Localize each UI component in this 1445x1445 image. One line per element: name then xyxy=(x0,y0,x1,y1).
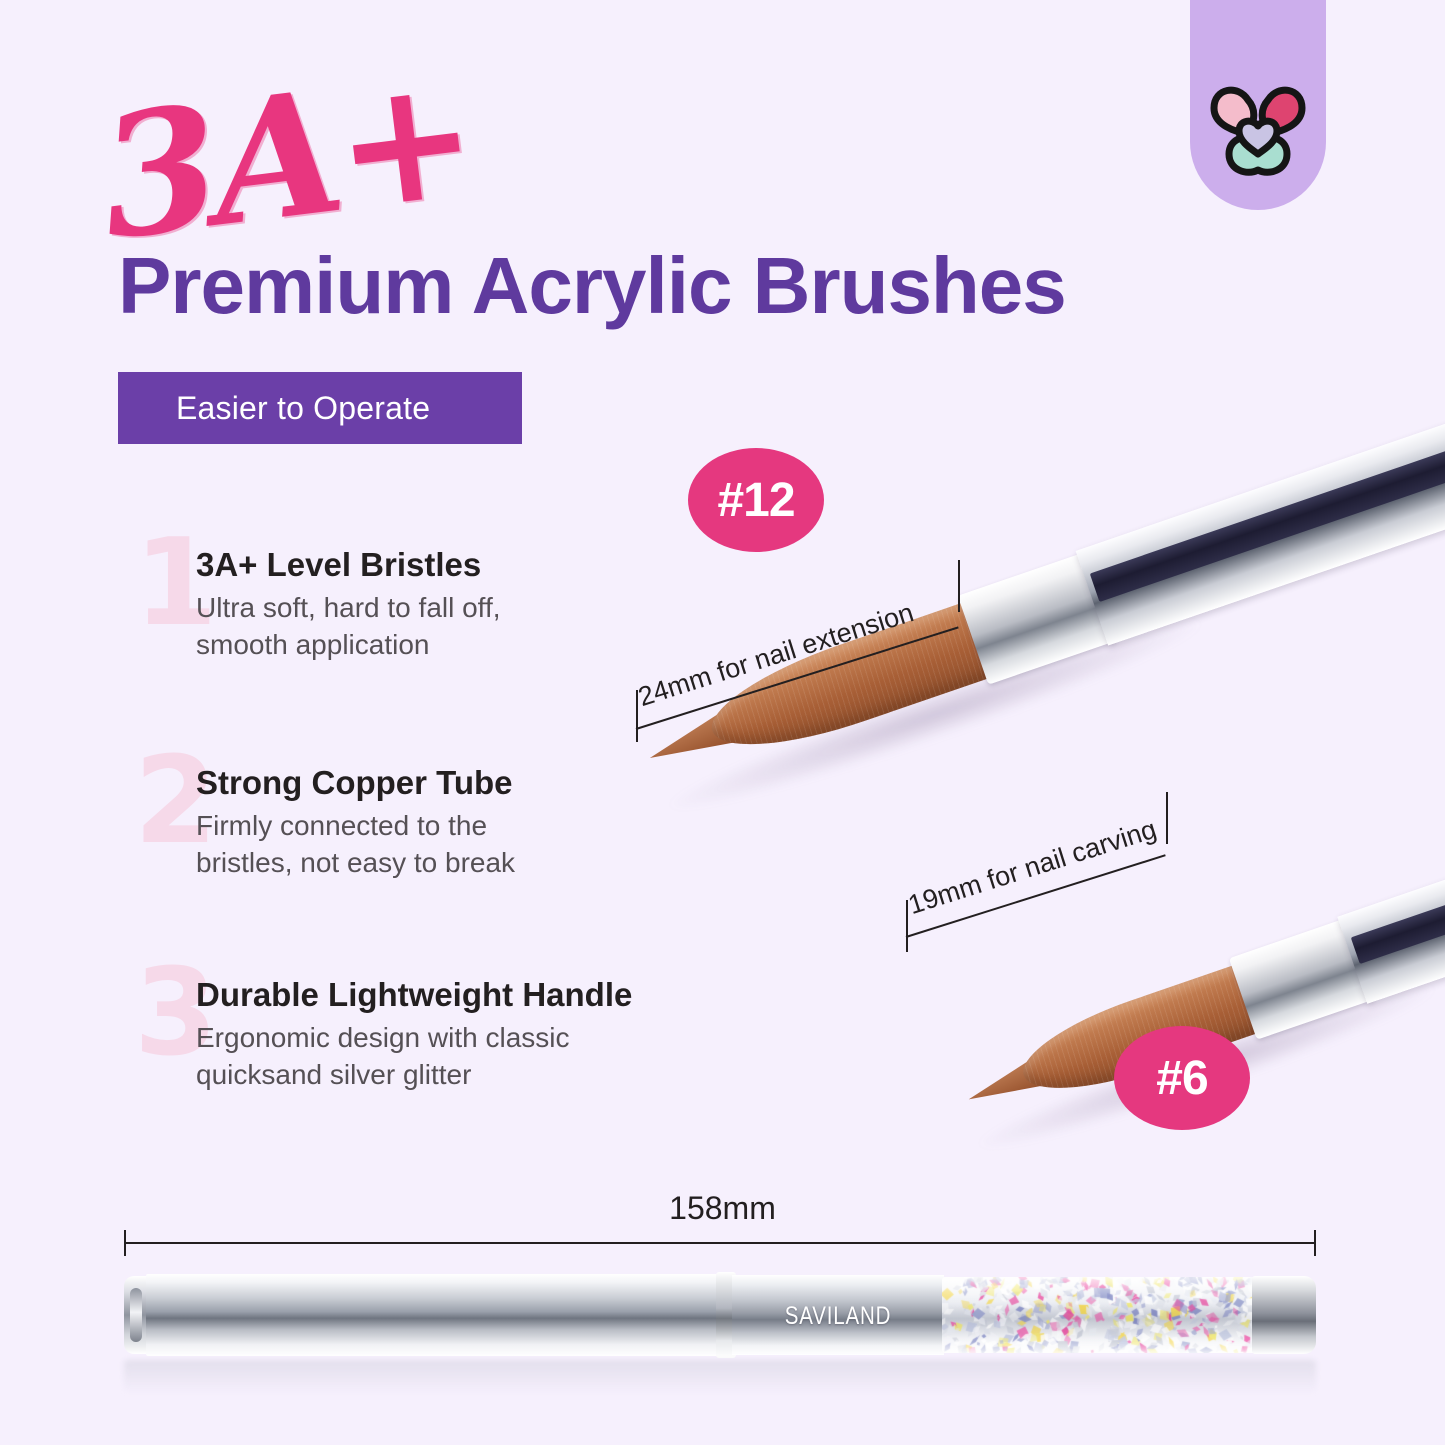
feature-description: Firmly connected to the bristles, not ea… xyxy=(196,808,666,882)
brand-name-text: SAVILAND xyxy=(751,1302,925,1331)
full-brush-length-label: 158mm xyxy=(0,1190,1445,1227)
feature-title: Strong Copper Tube xyxy=(196,764,666,802)
brush-end-cap xyxy=(1252,1276,1316,1354)
infographic-page: 3A+ Premium Acrylic Brushes Easier to Op… xyxy=(0,0,1445,1445)
feature-desc-line: smooth application xyxy=(196,627,666,664)
brush-barrel xyxy=(146,1274,724,1356)
feature-desc-line: Ultra soft, hard to fall off, xyxy=(196,590,666,627)
dimension-tick-right xyxy=(1166,792,1168,844)
flower-logo-icon xyxy=(1205,78,1311,178)
feature-description: Ultra soft, hard to fall off, smooth app… xyxy=(196,590,666,664)
full-brush-section: 158mm SAVILAND xyxy=(0,1168,1445,1445)
dimension-tick-right xyxy=(958,560,960,612)
glitter-tube xyxy=(942,1277,1256,1353)
full-brush-illustration: SAVILAND xyxy=(124,1272,1316,1358)
feature-desc-line: bristles, not easy to break xyxy=(196,845,666,882)
feature-title: 3A+ Level Bristles xyxy=(196,546,666,584)
subtitle-chip: Easier to Operate xyxy=(118,372,522,444)
dimension-tick-left xyxy=(636,690,638,742)
dimension-tick-left xyxy=(906,900,908,952)
subtitle-chip-label: Easier to Operate xyxy=(118,390,430,427)
length-dimension-line xyxy=(124,1242,1316,1244)
brush-cap-inner xyxy=(130,1288,142,1342)
size-badge-6: #6 xyxy=(1114,1026,1250,1130)
glitter-canvas xyxy=(942,1277,1256,1353)
brush-reflection xyxy=(124,1360,1316,1394)
script-3aplus-headline: 3A+ xyxy=(92,51,480,263)
feature-desc-line: Firmly connected to the xyxy=(196,808,666,845)
size-badge-12: #12 xyxy=(688,448,824,552)
